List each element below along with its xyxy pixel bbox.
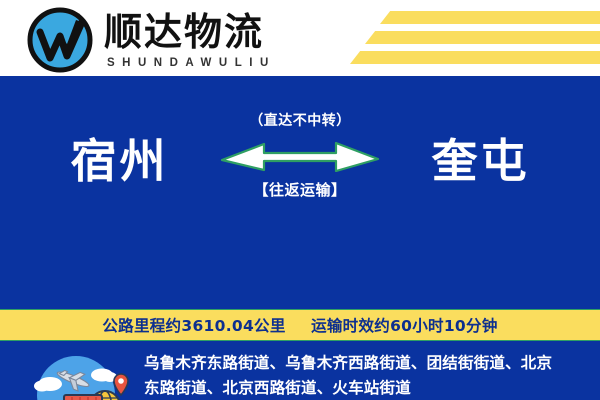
route-row: 宿州 （直达不中转） 【往返运输】 奎屯 bbox=[0, 110, 600, 235]
destination-city: 奎屯 bbox=[373, 130, 588, 192]
origin-city: 宿州 bbox=[12, 130, 227, 192]
shunda-circle-swoosh-logo-icon bbox=[26, 6, 96, 74]
decorative-stripes bbox=[320, 0, 600, 76]
direct-shipping-note: （直达不中转） bbox=[205, 110, 395, 132]
stripe-2 bbox=[365, 31, 600, 44]
stripe-1 bbox=[380, 11, 600, 24]
stripe-3 bbox=[350, 51, 600, 64]
route-arrow-group: （直达不中转） 【往返运输】 bbox=[205, 110, 395, 235]
banner-header: 顺达物流 SHUNDAWULIU bbox=[0, 0, 600, 76]
round-trip-note: 【往返运输】 bbox=[205, 179, 395, 201]
logo-wordmark: 顺达物流 SHUNDAWULIU bbox=[104, 10, 276, 71]
duration-value: 运输时效约60小时10分钟 bbox=[311, 317, 498, 335]
banner-body: 宿州 （直达不中转） 【往返运输】 奎屯 公路里程约3610.04公里 运输时效… bbox=[0, 76, 600, 400]
company-logo[interactable]: 顺达物流 SHUNDAWULIU bbox=[26, 6, 276, 74]
company-name-en: SHUNDAWULIU bbox=[107, 55, 276, 71]
distance-duration-bar: 公路里程约3610.04公里 运输时效约60小时10分钟 bbox=[0, 309, 600, 341]
double-headed-arrow-icon bbox=[205, 138, 395, 172]
company-name-cn: 顺达物流 bbox=[104, 10, 276, 54]
logistics-route-banner: 顺达物流 SHUNDAWULIU 宿州 （直达不中转） 【往返运输】 bbox=[0, 0, 600, 400]
covered-streets-list: 乌鲁木齐东路街道、乌鲁木齐西路街道、团结街街道、北京东路街道、北京西路街道、火车… bbox=[144, 351, 564, 400]
info-bar-text: 公路里程约3610.04公里 运输时效约60小时10分钟 bbox=[102, 314, 497, 336]
coverage-area: 乌鲁木齐东路街道、乌鲁木齐西路街道、团结街街道、北京东路街道、北京西路街道、火车… bbox=[0, 348, 600, 400]
logistics-truck-plane-globe-icon bbox=[22, 354, 130, 400]
distance-value: 公路里程约3610.04公里 bbox=[102, 317, 285, 335]
